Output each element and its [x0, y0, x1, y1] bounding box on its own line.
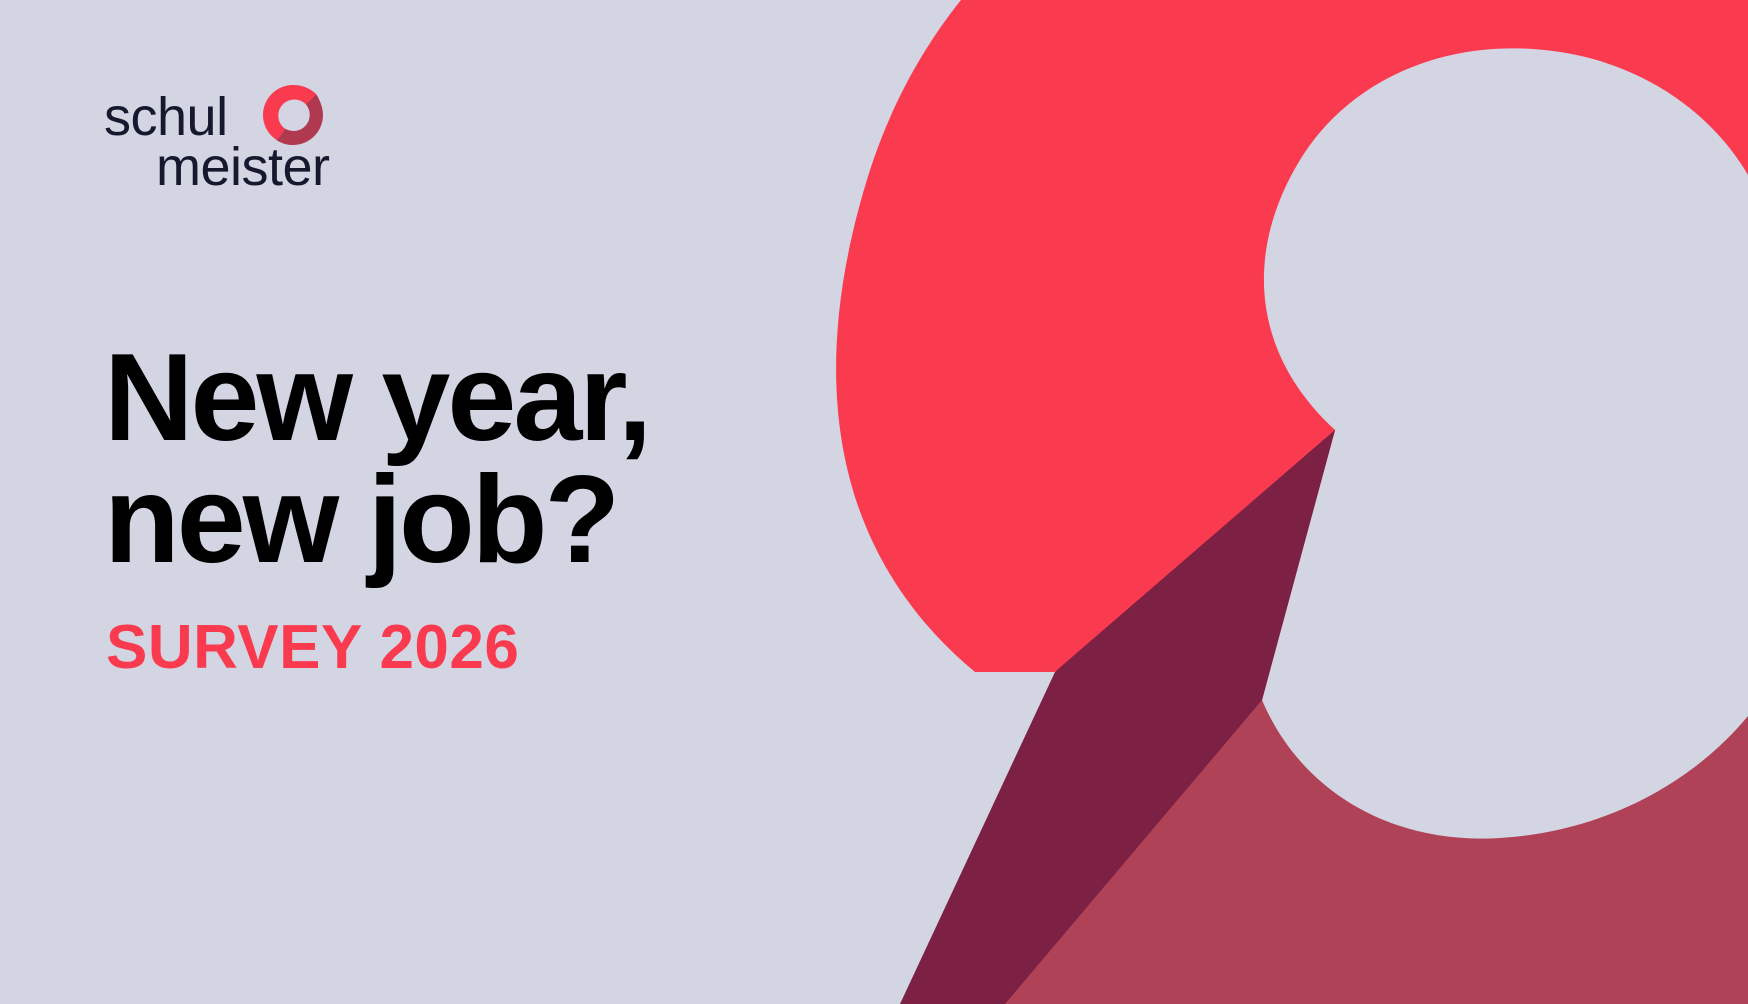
subtitle-survey-year: SURVEY 2026 — [106, 617, 519, 679]
headline-line-1: New year, — [104, 338, 864, 460]
brand-mark-fold-plane — [1005, 430, 1335, 1004]
logo-word-meister: meister — [156, 140, 330, 194]
brand-mark-fold-body — [905, 430, 1335, 1004]
schulmeister-logo[interactable]: schul meister — [104, 84, 404, 209]
brand-mark-fold-wedge — [900, 430, 1335, 1004]
brand-mark-lower-lobe — [1005, 700, 1748, 1004]
slide-canvas: schul meister New year, new job? SURVEY … — [0, 0, 1748, 1004]
brand-mark-fold-wedge-inner — [1030, 430, 1335, 1004]
brand-mark-upper-lobe — [836, 0, 1748, 672]
schulmeister-infinity-mark-icon — [262, 84, 324, 146]
headline-line-2: new job? — [104, 460, 864, 582]
logo-word-schul: schul — [104, 90, 228, 144]
headline-block: New year, new job? — [104, 338, 864, 581]
